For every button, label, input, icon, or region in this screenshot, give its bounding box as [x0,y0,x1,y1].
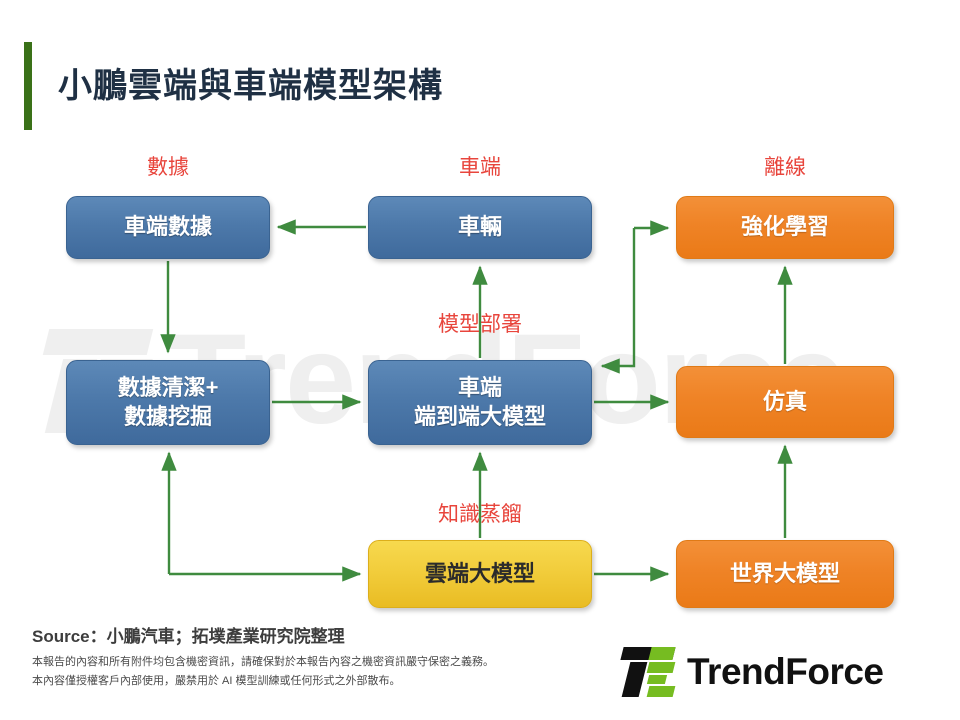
source-line: Source：小鵬汽車；拓墣產業研究院整理 [32,622,345,647]
node-end-to-end-model[interactable]: 車端 端到端大模型 [368,360,592,445]
node-reinforcement-learning-label: 強化學習 [741,213,829,241]
node-vehicle[interactable]: 車輛 [368,196,592,259]
trendforce-logo-text: TrendForce [687,651,884,693]
wire-simulation-to-e2e [602,228,634,366]
node-end-to-end-model-line2: 端到端大模型 [414,403,546,431]
node-vehicle-data[interactable]: 車端數據 [66,196,270,259]
slide-canvas: TrendForce 小鵬雲端與車端模型架構 [0,0,960,720]
group-label-offline: 離線 [764,151,806,181]
group-label-deploy: 模型部署 [438,308,522,338]
node-vehicle-data-label: 車端數據 [124,213,212,241]
title-accent-bar [24,42,32,130]
node-data-cleaning-line2: 數據挖掘 [118,403,219,431]
node-vehicle-label: 車輛 [458,213,502,241]
node-data-cleaning-line1: 數據清潔+ [118,374,219,402]
group-label-vehicle: 車端 [459,151,501,181]
node-data-cleaning[interactable]: 數據清潔+ 數據挖掘 [66,360,270,445]
node-cloud-model[interactable]: 雲端大模型 [368,540,592,608]
disclaimer-line-1: 本報告的內容和所有附件均包含機密資訊，請確保對於本報告內容之機密資訊嚴守保密之義… [32,653,494,669]
group-label-data: 數據 [147,151,189,181]
node-simulation[interactable]: 仿真 [676,366,894,438]
page-title: 小鵬雲端與車端模型架構 [58,58,443,107]
node-simulation-label: 仿真 [763,388,807,416]
group-label-distill: 知識蒸餾 [438,498,522,528]
node-reinforcement-learning[interactable]: 強化學習 [676,196,894,259]
node-cloud-model-label: 雲端大模型 [425,560,535,588]
trendforce-logo: TrendForce [620,643,884,701]
node-world-model-label: 世界大模型 [730,560,840,588]
trendforce-logo-icon [620,643,678,701]
node-end-to-end-model-line1: 車端 [414,374,546,402]
node-world-model[interactable]: 世界大模型 [676,540,894,608]
disclaimer-line-2: 本內容僅授權客戶內部使用，嚴禁用於 AI 模型訓練或任何形式之外部散布。 [32,672,401,688]
